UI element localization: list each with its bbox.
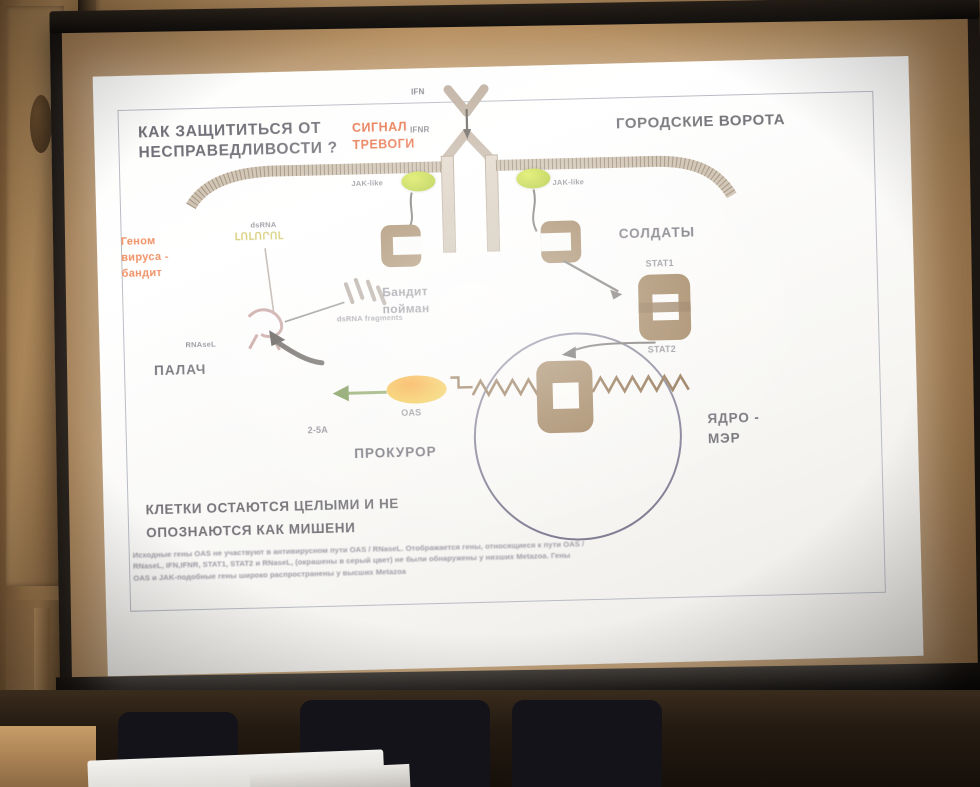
foreground-desk-left xyxy=(0,726,96,787)
chair-back-right xyxy=(512,700,662,787)
photo-scene: КАК ЗАЩИТИТЬСЯ ОТ НЕСПРАВЕДЛИВОСТИ ? СИГ… xyxy=(0,0,980,787)
photo-vignette xyxy=(0,0,980,787)
